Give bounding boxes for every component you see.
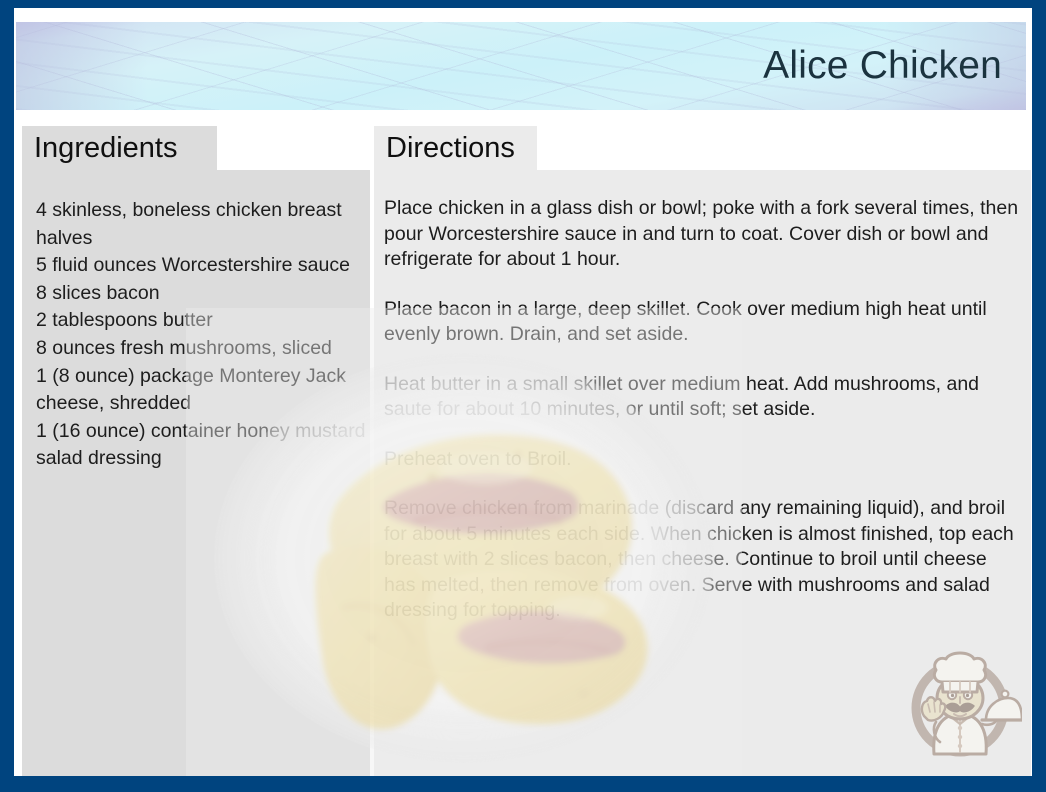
page-title: Alice Chicken xyxy=(763,44,1002,88)
ingredients-body: 4 skinless, boneless chicken breast halv… xyxy=(22,170,370,776)
direction-step: Heat butter in a small skillet over medi… xyxy=(384,372,1023,423)
directions-panel: Directions Place chicken in a glass dish… xyxy=(374,126,1031,776)
title-banner: Alice Chicken xyxy=(16,22,1026,110)
recipe-card: Alice Chicken xyxy=(0,0,1046,792)
direction-step: Place chicken in a glass dish or bowl; p… xyxy=(384,196,1023,273)
directions-tab: Directions xyxy=(374,126,537,170)
ingredients-tab: Ingredients xyxy=(22,126,217,170)
directions-heading: Directions xyxy=(386,132,515,165)
list-item: 2 tablespoons butter xyxy=(36,307,366,335)
direction-step: Remove chicken from marinade (discard an… xyxy=(384,496,1023,624)
list-item: 1 (8 ounce) package Monterey Jack cheese… xyxy=(36,363,366,418)
direction-step: Preheat oven to Broil. xyxy=(384,447,1023,473)
list-item: 5 fluid ounces Worcestershire sauce xyxy=(36,252,366,280)
card-inner: Alice Chicken xyxy=(14,8,1032,776)
directions-body: Place chicken in a glass dish or bowl; p… xyxy=(374,170,1031,776)
direction-step: Place bacon in a large, deep skillet. Co… xyxy=(384,297,1023,348)
ingredients-panel: Ingredients 4 skinless, boneless chicken… xyxy=(22,126,370,776)
ingredients-heading: Ingredients xyxy=(34,132,178,165)
list-item: 1 (16 ounce) container honey mustard sal… xyxy=(36,418,366,473)
list-item: 8 ounces fresh mushrooms, sliced xyxy=(36,335,366,363)
list-item: 8 slices bacon xyxy=(36,280,366,308)
list-item: 4 skinless, boneless chicken breast halv… xyxy=(36,197,366,252)
directions-steps: Place chicken in a glass dish or bowl; p… xyxy=(374,170,1031,624)
ingredients-list: 4 skinless, boneless chicken breast halv… xyxy=(22,170,370,473)
